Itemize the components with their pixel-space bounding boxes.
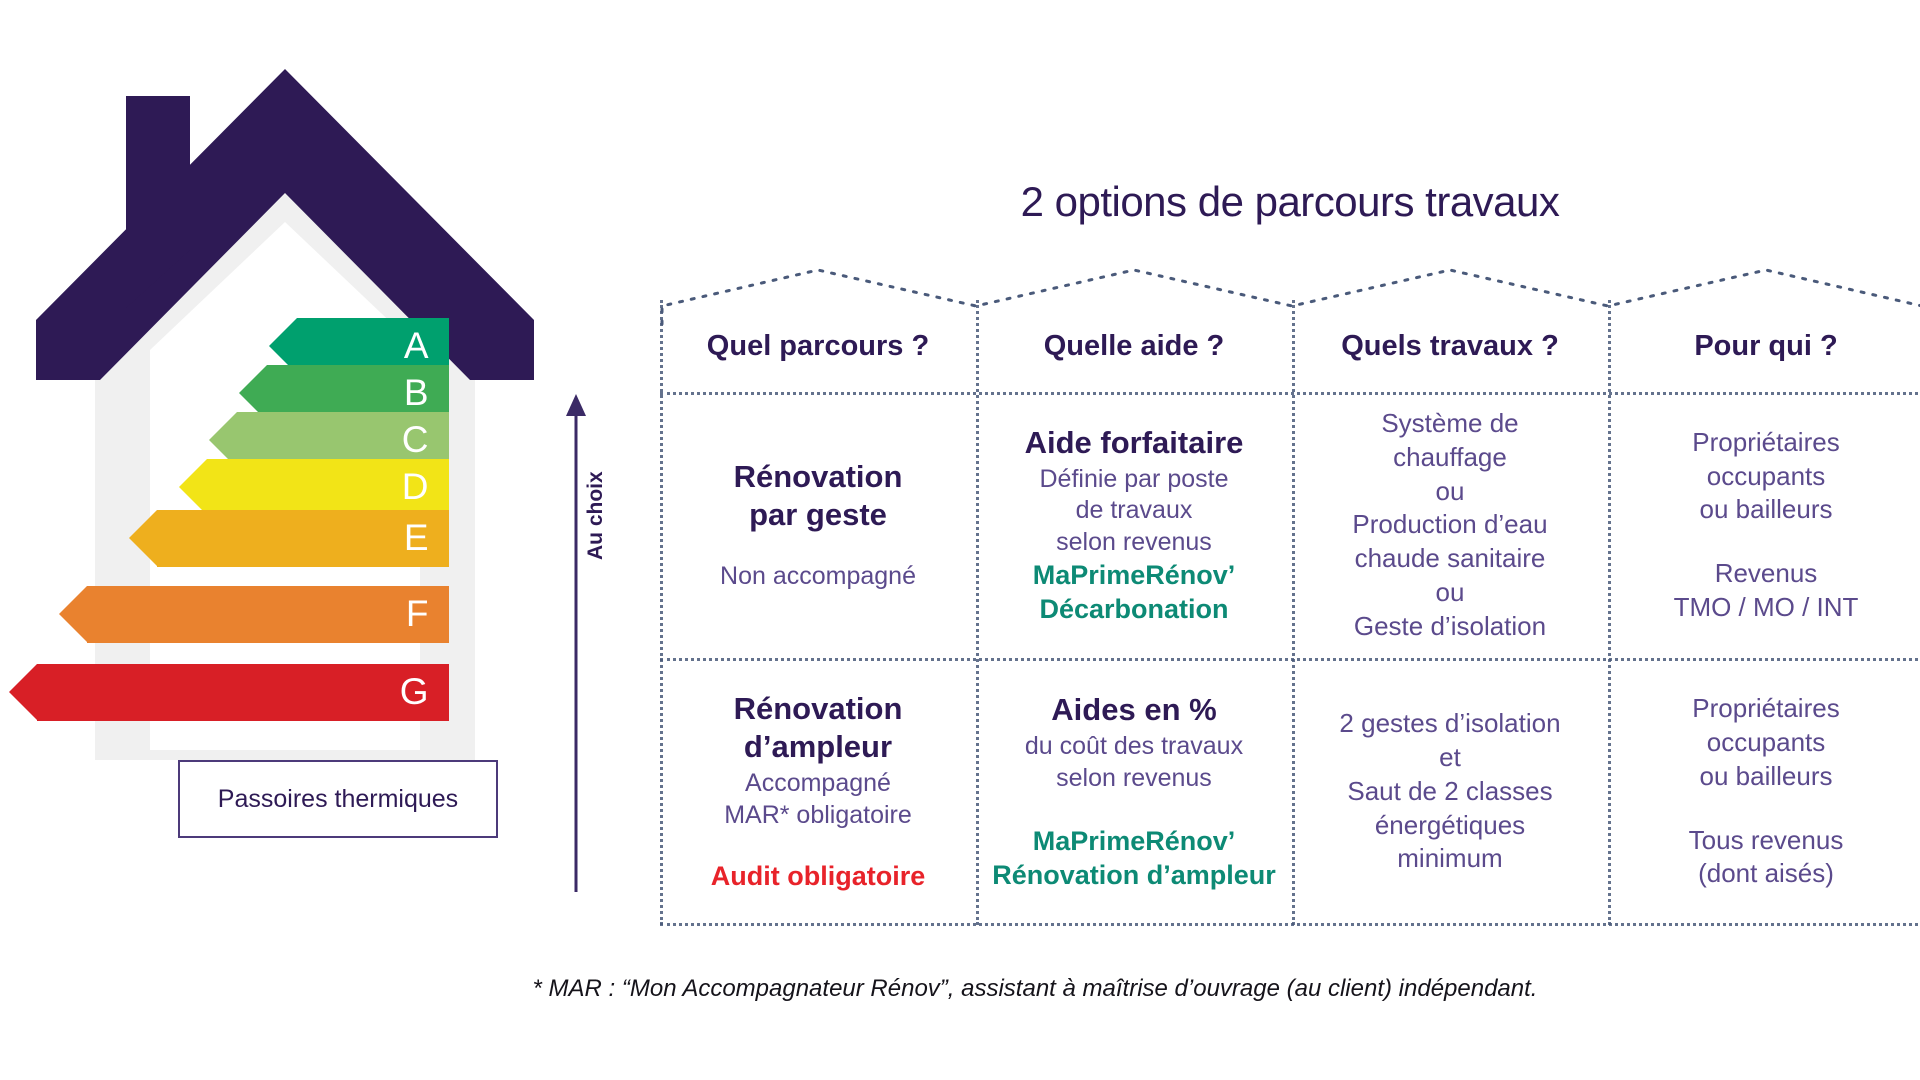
travaux-text: 2 gestes d’isolationetSaut de 2 classesé… [1339,707,1560,876]
header-label: Quels travaux ? [1341,330,1559,363]
page-title: 2 options de parcours travaux [660,178,1920,226]
table-row: Aide forfaitaire Définie par postede tra… [976,392,1292,659]
pour-qui-revenus: Tous revenus(dont aisés) [1689,824,1844,892]
table-row: Aides en % du coût des travauxselon reve… [976,659,1292,926]
energy-bar-g: G [37,664,449,721]
energy-bar-letter: D [402,468,429,505]
parcours-title: Rénovationpar geste [734,458,903,534]
parcours-sub: AccompagnéMAR* obligatoire [724,768,912,831]
table-row: Rénovationd’ampleur AccompagnéMAR* oblig… [660,659,976,926]
travaux-text: Système dechauffageouProduction d’eaucha… [1352,407,1547,644]
footnote-mar-definition: * MAR : “Mon Accompagnateur Rénov”, assi… [0,975,1920,1003]
table-row: 2 gestes d’isolationetSaut de 2 classesé… [1292,659,1608,926]
energy-bar-e: E [157,510,449,567]
passoires-thermiques-callout: Passoires thermiques [178,760,498,838]
energy-bar-d: D [207,459,449,516]
infographic-root: ABCDEFG Passoires thermiques Au choix 2 … [0,0,1920,1080]
energy-bar-letter: E [404,519,429,556]
table-header-quel-parcours: Quel parcours ? [660,300,976,392]
passoires-thermiques-label: Passoires thermiques [218,785,458,814]
aide-sub: du coût des travauxselon revenus [1025,731,1243,794]
pour-qui-text: Propriétairesoccupantsou bailleurs [1692,426,1839,527]
table-row: Rénovationpar geste Non accompagné [660,392,976,659]
header-label: Quelle aide ? [1044,330,1225,363]
pour-qui-revenus: RevenusTMO / MO / INT [1674,557,1859,625]
table-header-quelle-aide: Quelle aide ? [976,300,1292,392]
table-header-quels-travaux: Quels travaux ? [1292,300,1608,392]
parcours-comparison-table: Quel parcours ? Quelle aide ? Quels trav… [660,300,1920,925]
table-row: Système dechauffageouProduction d’eaucha… [1292,392,1608,659]
table-header-pour-qui: Pour qui ? [1608,300,1920,392]
energy-bar-f: F [87,586,449,643]
table-row: Propriétairesoccupantsou bailleurs Tous … [1608,659,1920,926]
au-choix-label: Au choix [584,360,608,560]
header-label: Quel parcours ? [707,330,929,363]
pour-qui-text: Propriétairesoccupantsou bailleurs [1692,692,1839,793]
energy-bar-letter: B [404,374,429,411]
energy-bar-letter: G [400,673,429,710]
aide-title: Aide forfaitaire [1025,424,1244,462]
aide-program-name: MaPrimeRénov’Décarbonation [1033,558,1236,626]
energy-bar-letter: C [402,421,429,458]
parcours-sub: Non accompagné [720,561,916,593]
header-label: Pour qui ? [1694,330,1837,363]
energy-bar-letter: F [406,595,429,632]
parcours-audit-warning: Audit obligatoire [711,859,925,893]
aide-sub: Définie par postede travauxselon revenus [1039,464,1228,559]
parcours-title: Rénovationd’ampleur [734,690,903,766]
energy-bar-letter: A [404,327,429,364]
aide-title: Aides en % [1051,691,1216,729]
aide-program-name: MaPrimeRénov’Rénovation d’ampleur [992,824,1276,892]
table-row: Propriétairesoccupantsou bailleurs Reven… [1608,392,1920,659]
